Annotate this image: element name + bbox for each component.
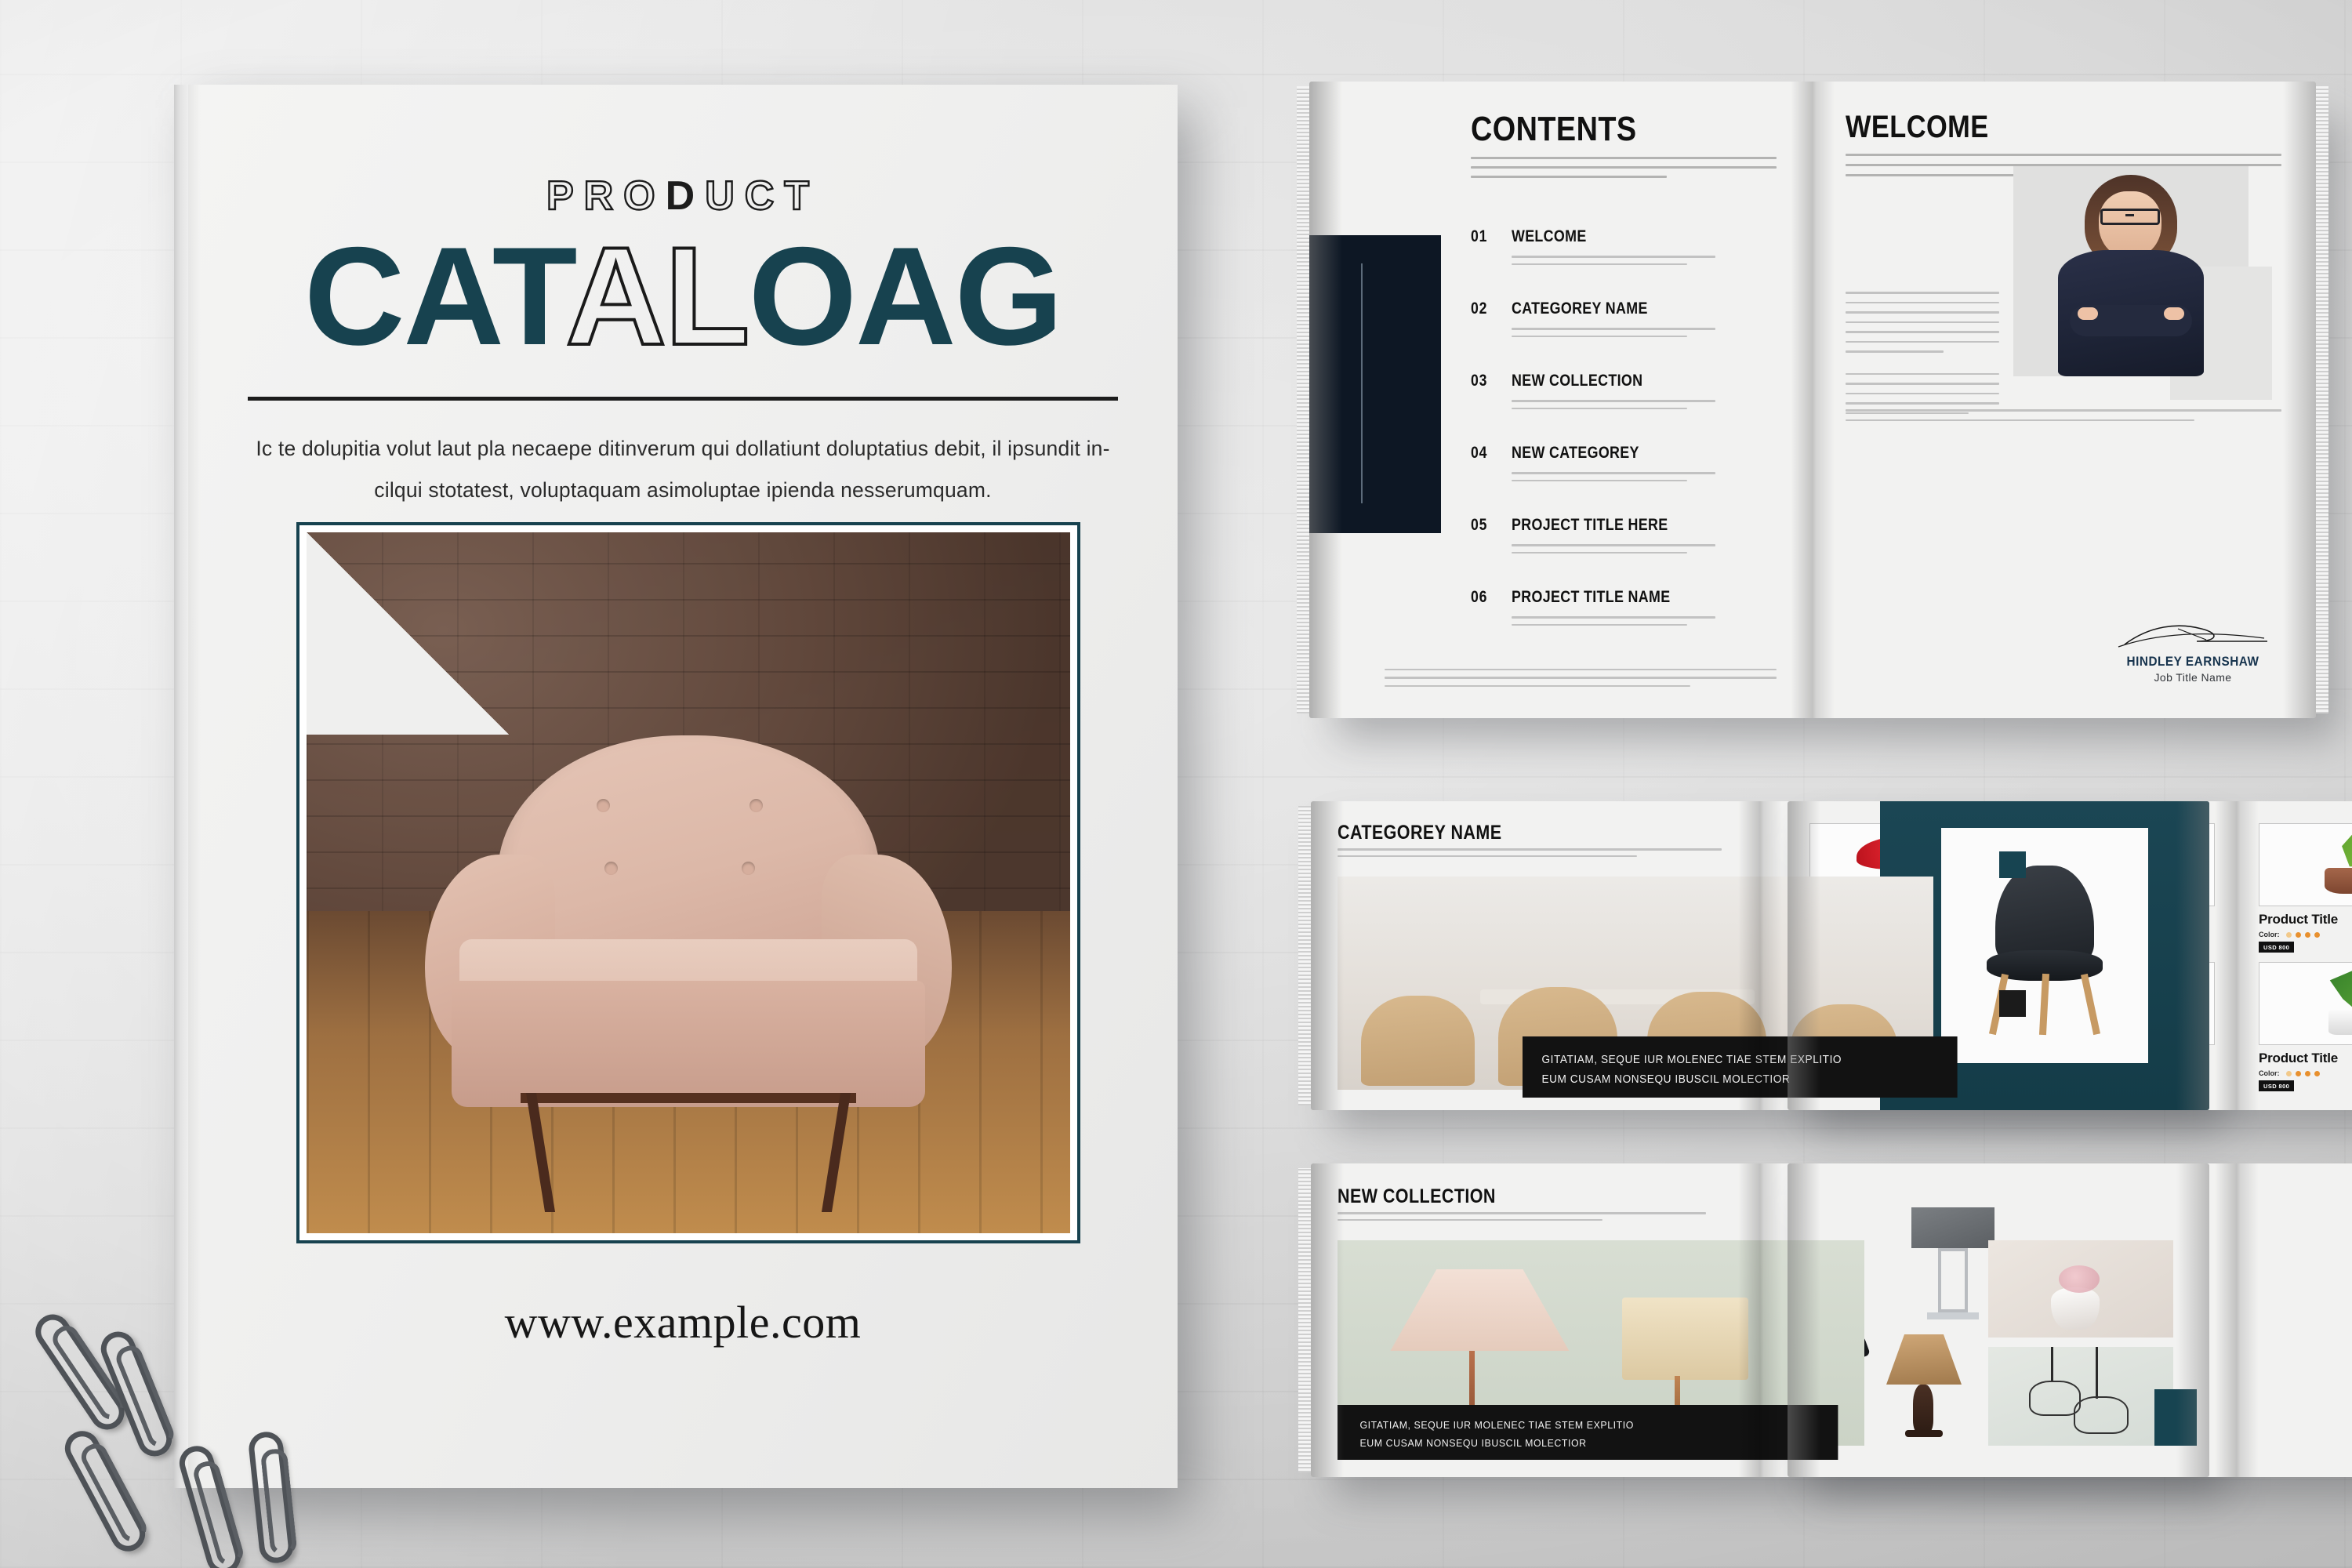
signature-svg [2103, 621, 2283, 651]
lamp-frame [1938, 1248, 1968, 1312]
cover-kicker-part-2: D [666, 173, 706, 219]
flowers [2059, 1265, 2100, 1293]
list-item[interactable]: 02 CATEGOREY NAME [1471, 299, 1780, 337]
page-curl [1788, 1163, 1820, 1477]
welcome-title: WELCOME [1846, 110, 1989, 145]
product-card[interactable]: Product Title Color: USD 800 [2259, 962, 2352, 1093]
cover-armchair-photo [307, 532, 1070, 1233]
armchair-base [452, 981, 925, 1107]
avatar [2035, 166, 2227, 376]
portrait-face [2099, 191, 2162, 259]
price-badge: USD 800 [2259, 942, 2294, 953]
list-item[interactable]: 03 NEW COLLECTION [1471, 372, 1780, 409]
cover-kicker: PRODUCT [248, 172, 1118, 220]
cover-title-part-1: CAT [304, 218, 565, 374]
color-swatch[interactable] [2305, 1071, 2310, 1076]
contents-page: CONTENTS 01 WELCOME 02 CATEGOREY NAME [1309, 82, 1813, 718]
product-color-row: Color: [2259, 931, 2352, 938]
paperclip-icon [59, 1425, 151, 1558]
product-title: Product Title [2259, 912, 2352, 927]
lamp-cord [2096, 1347, 2098, 1399]
monstera-leaves-icon [2310, 969, 2352, 1011]
cover-subtitle-line-1: Ic te dolupitia volut laut pla necaepe d… [248, 428, 1118, 470]
signature-block: HINDLEY EARNSHAW Job Title Name [2103, 621, 2283, 684]
caption-line-1: GITATIAM, SEQUE IUR MOLENEC TIAE STEM EX… [1360, 1417, 1816, 1435]
product-card[interactable]: Product Title Color: USD 800 [2259, 823, 2352, 954]
color-swatch[interactable] [2314, 932, 2320, 938]
category-title: CATEGOREY NAME [1338, 822, 1502, 844]
color-swatch[interactable] [2296, 1071, 2301, 1076]
cover-divider-rule [248, 397, 1118, 401]
caption-line-2: EUM CUSAM NONSEQU IBUSCIL MOLECTIOR [1360, 1435, 1816, 1453]
toc-description [1512, 256, 1715, 265]
cover-kicker-part-1: PRO [546, 173, 666, 219]
category-subtitle-text [1338, 848, 1722, 862]
page-curl [1311, 1163, 1344, 1477]
white-vase [2051, 1287, 2099, 1330]
page-curl [2176, 801, 2209, 1110]
products-right-page: Product Title Color: USD 800 [2237, 801, 2352, 1110]
toc-label: WELCOME [1512, 227, 1740, 246]
toc-description [1512, 544, 1715, 554]
contents-intro-text [1471, 157, 1777, 178]
lamp-base [1927, 1312, 1979, 1319]
toc-label: PROJECT TITLE HERE [1512, 516, 1740, 535]
armchair-apron [521, 1093, 857, 1103]
page-curl [1788, 801, 1820, 1110]
welcome-outro-text [1846, 409, 2281, 429]
toc-description [1512, 616, 1715, 626]
terracotta-pot [2325, 868, 2352, 894]
toc-number: 05 [1471, 516, 1487, 535]
contents-title: CONTENTS [1471, 110, 1637, 149]
toc-label: CATEGOREY NAME [1512, 299, 1740, 318]
welcome-body-column [1846, 292, 1999, 422]
toc-number: 03 [1471, 372, 1487, 390]
toc-number: 01 [1471, 227, 1487, 246]
contents-footer-text [1385, 669, 1777, 688]
color-swatch[interactable] [2286, 932, 2292, 938]
color-swatch[interactable] [2305, 932, 2310, 938]
price-badge: USD 800 [2259, 1080, 2294, 1091]
cover-subtitle: Ic te dolupitia volut laut pla necaepe d… [248, 428, 1118, 511]
contents-accent-line [1361, 263, 1363, 503]
list-item[interactable]: 04 NEW CATEGOREY [1471, 444, 1780, 481]
welcome-page: WELCOME [1813, 82, 2316, 718]
signature-name: HINDLEY EARNSHAW [2112, 654, 2274, 670]
page-edge-left [1298, 806, 1311, 1105]
table-of-contents-list: 01 WELCOME 02 CATEGOREY NAME 03 NEW COLL… [1471, 227, 1780, 660]
toc-label: NEW COLLECTION [1512, 372, 1740, 390]
glasses-icon [2100, 209, 2160, 225]
cover-title-part-2: AL [565, 218, 748, 374]
list-item[interactable]: 06 PROJECT TITLE NAME [1471, 588, 1780, 626]
toc-label: PROJECT TITLE NAME [1512, 588, 1740, 607]
lamp-shade [1390, 1269, 1569, 1352]
cover-corner-cut [307, 532, 509, 735]
grey-shade-table-lamp-icon [1911, 1207, 1994, 1248]
page-edge-right [2316, 86, 2328, 713]
cover-title: CATALOAG [248, 223, 1118, 371]
product-image [2259, 823, 2352, 906]
toc-description [1512, 328, 1715, 337]
toc-number: 04 [1471, 444, 1487, 463]
paperclips-group [47, 1278, 392, 1568]
paperclip-icon [176, 1442, 245, 1568]
product-grid-right: Product Title Color: USD 800 [2259, 823, 2352, 1093]
color-swatch[interactable] [2314, 1071, 2320, 1076]
cover-title-part-3: OAG [749, 218, 1062, 374]
category-caption: GITATIAM, SEQUE IUR MOLENEC TIAE STEM EX… [1523, 1036, 1958, 1098]
page-curl [2283, 82, 2316, 718]
category-spread: CATEGOREY NAME GITATIAM, SEQUE IUR MOLEN… [1311, 801, 2209, 1110]
page-curl [1309, 82, 1342, 718]
color-swatch[interactable] [2296, 932, 2301, 938]
cover-kicker-part-3: UCT [705, 173, 819, 219]
list-item[interactable]: 01 WELCOME [1471, 227, 1780, 265]
armchair-button [604, 862, 618, 875]
dining-chair [1361, 996, 1474, 1085]
connector-block [1999, 851, 2026, 878]
signature-job-title: Job Title Name [2103, 671, 2283, 684]
armchair-button [597, 799, 610, 812]
plant-leaves-icon [2318, 830, 2352, 869]
lamp-body [1913, 1385, 1933, 1433]
color-swatch[interactable] [2286, 1071, 2292, 1076]
list-item[interactable]: 05 PROJECT TITLE HERE [1471, 516, 1780, 554]
lamp-cord [2051, 1347, 2053, 1382]
cover-subtitle-line-2: cilqui stotatest, voluptaquam asimolupta… [248, 470, 1118, 511]
toc-number: 02 [1471, 299, 1487, 318]
chair-leg [2039, 974, 2049, 1035]
color-label: Color: [2259, 1069, 2280, 1077]
page-edge-left [1298, 1168, 1311, 1472]
page-edge-left [1297, 86, 1309, 713]
toc-description [1512, 472, 1715, 481]
cover-photo-frame [296, 522, 1080, 1243]
connector-block [1999, 990, 2026, 1017]
lamp-right-page [2237, 1163, 2352, 1477]
product-title: Product Title [2259, 1051, 2352, 1066]
new-collection-subtitle-text [1338, 1212, 1706, 1225]
portrait-hand [2164, 307, 2184, 320]
product-image [2259, 962, 2352, 1045]
new-collection-caption: GITATIAM, SEQUE IUR MOLENEC TIAE STEM EX… [1338, 1405, 1838, 1460]
new-collection-title: NEW COLLECTION [1338, 1185, 1496, 1208]
contents-welcome-spread: CONTENTS 01 WELCOME 02 CATEGOREY NAME [1309, 82, 2316, 718]
product-color-row: Color: [2259, 1069, 2352, 1077]
chair-leg [2081, 974, 2100, 1035]
category-product-photo [1941, 828, 2148, 1063]
wire-cage-lamp-icon [2074, 1396, 2129, 1434]
toc-description [1512, 400, 1715, 409]
wood-base-table-lamp-icon [1886, 1334, 1962, 1385]
lamp-shade [1622, 1298, 1748, 1380]
color-label: Color: [2259, 931, 2280, 938]
toc-number: 06 [1471, 588, 1487, 607]
armchair-button [750, 799, 763, 812]
lamp-base [1905, 1430, 1943, 1437]
portrait-hand [2078, 307, 2098, 320]
toc-label: NEW CATEGOREY [1512, 444, 1740, 463]
page-curl [1311, 801, 1344, 1110]
signature-mark-icon [2103, 621, 2283, 651]
paperclip-icon [247, 1430, 295, 1565]
white-pot [2328, 1010, 2352, 1034]
caption-line-1: GITATIAM, SEQUE IUR MOLENEC TIAE STEM EX… [1541, 1051, 1938, 1070]
pendant-lamps-photo-tile [1988, 1347, 2173, 1446]
page-curl [2176, 1163, 2209, 1477]
vase-photo-tile [1988, 1240, 2173, 1338]
caption-line-2: EUM CUSAM NONSEQU IBUSCIL MOLECTIOR [1541, 1070, 1938, 1090]
